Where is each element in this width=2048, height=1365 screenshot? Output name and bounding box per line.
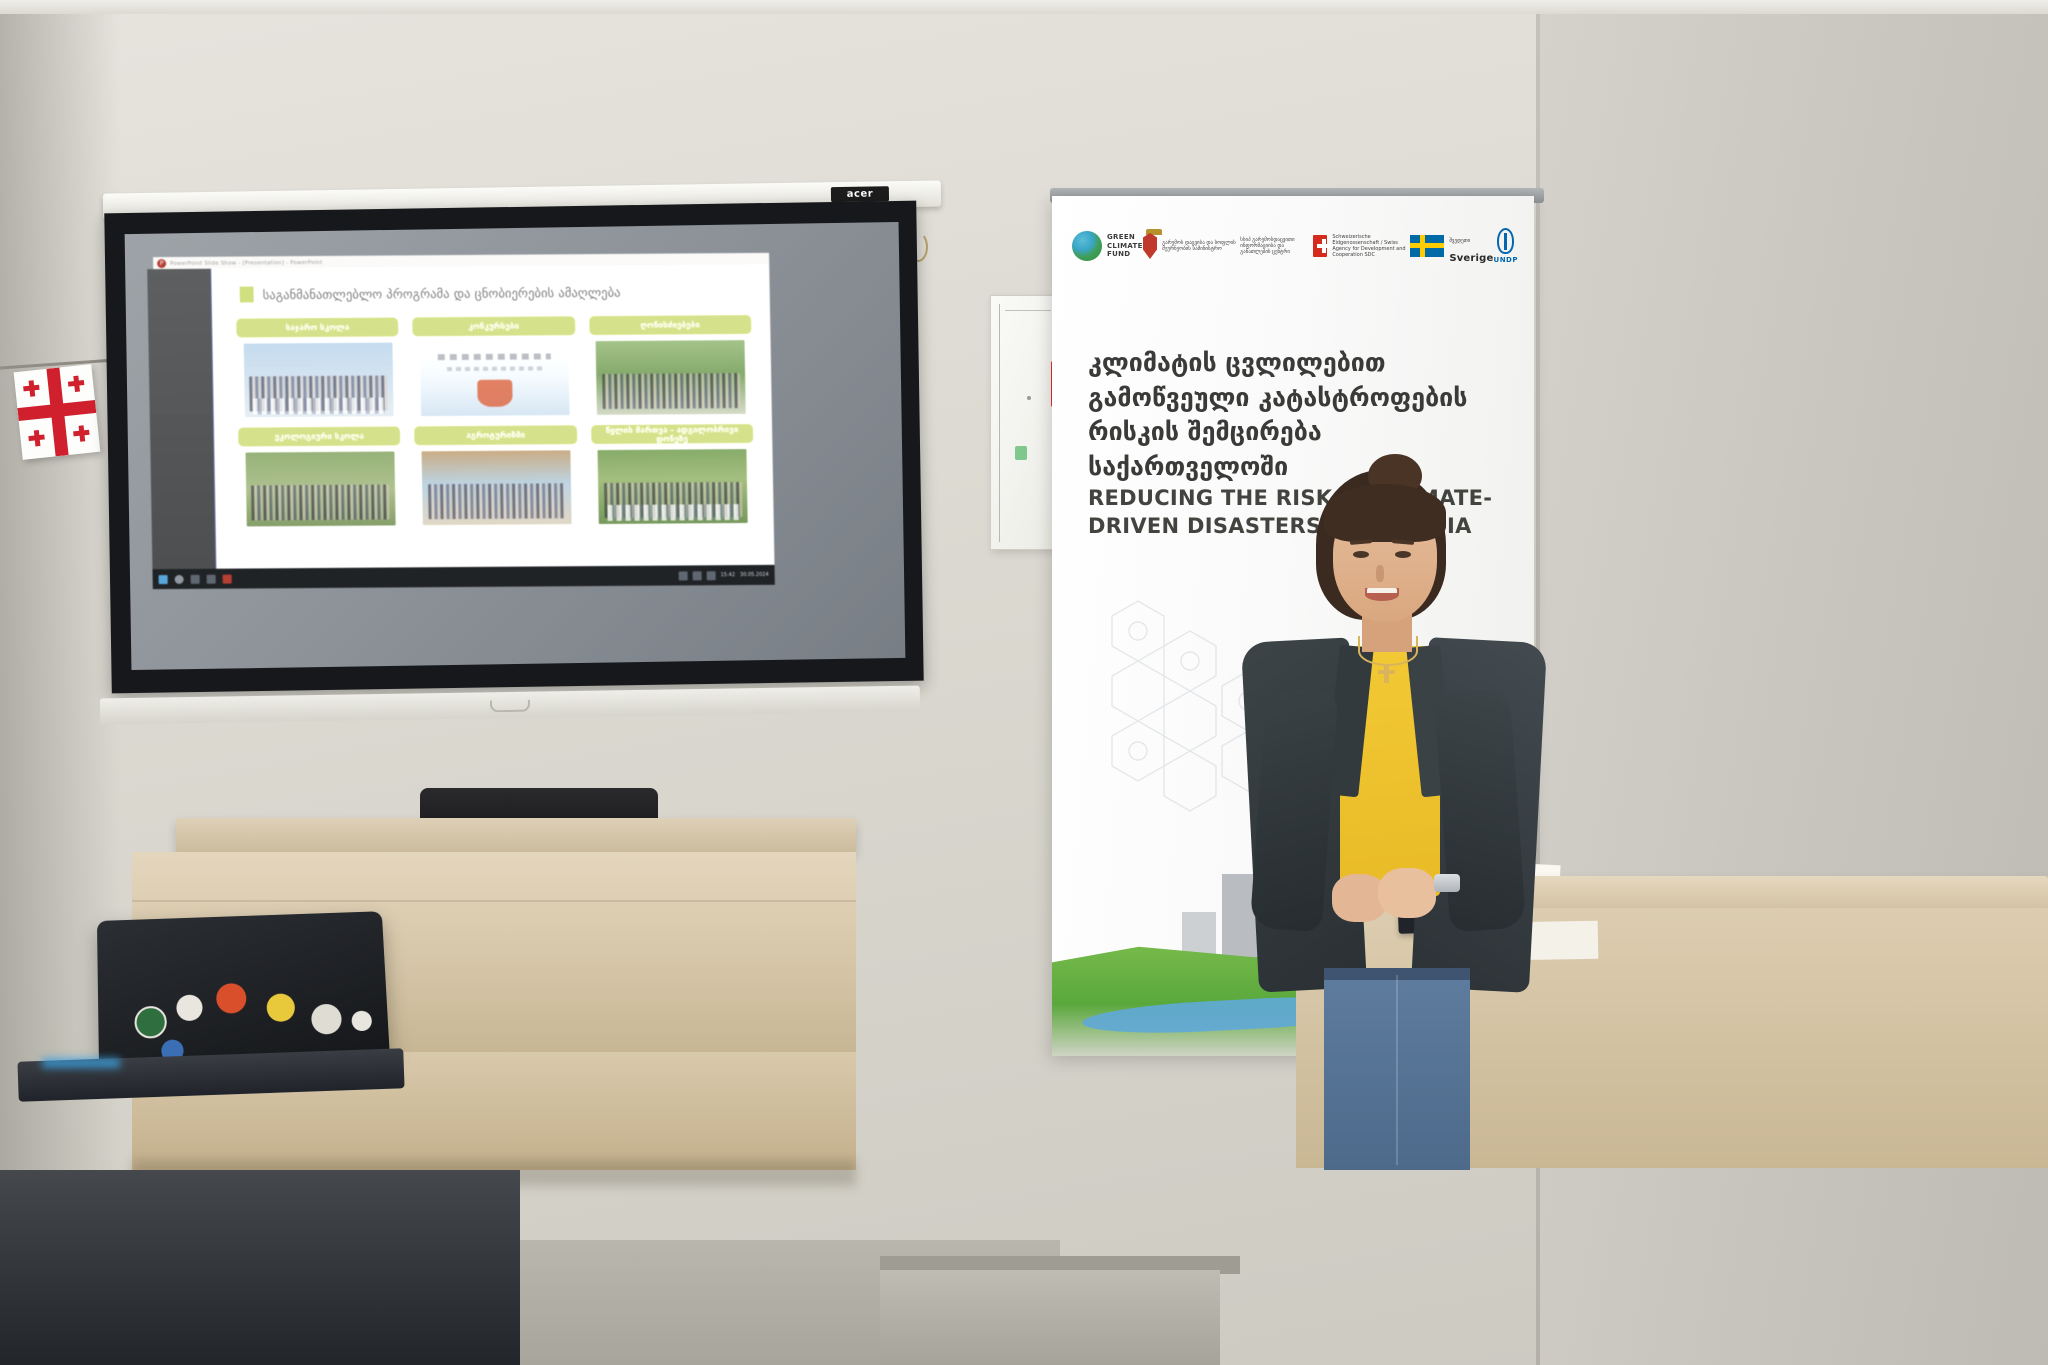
- folder-icon[interactable]: [191, 574, 200, 583]
- sdc-label: Schweizerische Eidgenossenschaft / Swiss…: [1332, 234, 1410, 259]
- swiss-flag-icon: [1313, 235, 1328, 257]
- slide-title-text: საგანმანათლებლო პროგრამა და ცნობიერების …: [263, 284, 621, 301]
- presenter: [1228, 470, 1558, 1170]
- slide-title: საგანმანათლებლო პროგრამა და ცნობიერების …: [240, 284, 621, 303]
- swiss-cooperation-logo: Schweizerische Eidgenossenschaft / Swiss…: [1313, 234, 1411, 259]
- laptop-sticker: [176, 994, 203, 1021]
- powerpoint-window-title: PowerPoint Slide Show - [Presentation] -…: [170, 259, 322, 266]
- slide-cell-label: საჯარო სკოლა: [236, 317, 399, 337]
- slide-cell: ეკოლოგიური სკოლა: [238, 426, 402, 526]
- cross-pendant-icon: [1384, 666, 1389, 683]
- slide-cell-image: [598, 449, 749, 524]
- center-label: სსიპ გარემოსდაცვითი ინფორმაციისა და განა…: [1240, 237, 1312, 256]
- network-icon[interactable]: [693, 571, 702, 580]
- slide-cell-image: [596, 340, 747, 415]
- slide-cell: კონკურსები: [412, 316, 576, 416]
- slide-cell-image: [243, 342, 394, 417]
- projector-screen-handle[interactable]: [490, 700, 530, 713]
- slide-cell: საჯარო სკოლა: [236, 317, 400, 417]
- ministry-label: გარემოს დაცვისა და სოფლის მეურნეობის სამ…: [1162, 240, 1240, 253]
- slide-cell: აგროტურიზმი: [414, 425, 578, 525]
- foreground-surface: [0, 1170, 520, 1365]
- slide-cell-label: ღონისძიებები: [589, 315, 752, 335]
- laptop-sticker: [351, 1011, 372, 1032]
- slide-cell-label: აგროტურიზმი: [414, 425, 577, 445]
- laptop-sticker: [134, 1006, 167, 1039]
- undp-logo: UNDP: [1494, 228, 1518, 264]
- gcf-label: GREENCLIMATEFUND: [1107, 233, 1143, 259]
- hair-front: [1324, 484, 1446, 542]
- floor-right: [880, 1270, 1220, 1365]
- slide-cell-image: [421, 450, 572, 525]
- georgia-ministry-logo: სსიპ გარემოსდაცვითი ინფორმაციისა და განა…: [1240, 237, 1312, 256]
- slide-cell: ღონისძიებები: [589, 315, 753, 415]
- laptop-lid[interactable]: [97, 911, 390, 1068]
- wristwatch: [1434, 874, 1460, 892]
- tree-icon: [1130, 964, 1150, 1002]
- banner-heading-georgian: კლიმატის ცვლილებით გამოწვეული კატასტროფე…: [1088, 346, 1512, 484]
- globe-icon: [1072, 231, 1102, 261]
- sverige-subtext: შვედეთი: [1449, 238, 1470, 244]
- undp-label: UNDP: [1494, 256, 1518, 264]
- sverige-label: Sverige: [1449, 253, 1493, 264]
- windows-icon[interactable]: [159, 575, 168, 584]
- search-icon[interactable]: [175, 574, 184, 583]
- necklace: [1358, 636, 1418, 666]
- slide-content-grid: საჯარო სკოლა კონკურსები ღონისძიებები: [236, 315, 755, 527]
- scene-root: acer P PowerPoint Slide Show - [Presenta…: [0, 0, 2048, 1365]
- undp-mark-icon: [1497, 228, 1514, 254]
- laptop-sticker: [311, 1004, 343, 1035]
- slide-cell-image: [245, 451, 396, 526]
- hand-right: [1378, 868, 1436, 918]
- green-sticker-icon: [1015, 446, 1027, 460]
- acer-logo: acer: [831, 186, 889, 202]
- projected-slide: P PowerPoint Slide Show - [Presentation]…: [147, 253, 775, 597]
- slide-cell-label: ეკოლოგიური სკოლა: [238, 426, 401, 446]
- windows-taskbar[interactable]: 15:42 30.05.2024: [152, 565, 774, 589]
- slide-cell: წყლის მართვა - ადგილობრივი დონეზე: [591, 424, 755, 524]
- wall-left-shadow: [0, 0, 120, 1365]
- taskbar-clock-date[interactable]: 30.05.2024: [740, 572, 769, 578]
- eye-left: [1353, 551, 1369, 558]
- powerpoint-taskbar-icon[interactable]: [223, 574, 232, 583]
- slide-title-bullet-icon: [240, 286, 254, 302]
- banner-logo-row: GREENCLIMATEFUND გარემოს დაცვისა და სოფლ…: [1072, 216, 1518, 276]
- laptop-sticker: [216, 983, 247, 1014]
- teeth: [1367, 588, 1397, 593]
- georgian-flag-icon: [14, 364, 101, 460]
- desk-panel-line: [132, 900, 856, 902]
- powerpoint-icon: P: [157, 259, 166, 268]
- cabinet-knob[interactable]: [1027, 396, 1031, 400]
- taskbar-clock-time[interactable]: 15:42: [721, 572, 736, 578]
- teacher-desk-top: [176, 818, 856, 854]
- jeans-seam: [1396, 975, 1398, 1165]
- slide-cell-image: [419, 341, 570, 416]
- sweden-sverige-logo: შვედეთი Sverige: [1410, 227, 1493, 265]
- slide-left-gutter: [147, 269, 216, 569]
- georgia-government-emblem: გარემოს დაცვისა და სოფლის მეურნეობის სამ…: [1143, 233, 1241, 259]
- wall-cabinet: [990, 295, 1058, 550]
- tray-chevron-icon[interactable]: [679, 571, 688, 580]
- laptop-power-led: [42, 1058, 120, 1068]
- slide-cell-label: წყლის მართვა - ადგილობრივი დონეზე: [591, 424, 754, 444]
- slide-cell-label: კონკურსები: [412, 316, 575, 336]
- coat-of-arms-icon: [1143, 233, 1158, 259]
- nose: [1376, 565, 1384, 582]
- tree-icon: [1092, 964, 1118, 1012]
- eye-right: [1395, 551, 1411, 558]
- sweden-flag-icon: [1410, 235, 1444, 257]
- browser-icon[interactable]: [207, 574, 216, 583]
- slide-canvas: საგანმანათლებლო პროგრამა და ცნობიერების …: [210, 265, 774, 569]
- green-climate-fund-logo: GREENCLIMATEFUND: [1072, 231, 1143, 261]
- laptop-sticker: [266, 993, 295, 1022]
- ceiling-edge: [0, 0, 2048, 14]
- volume-icon[interactable]: [707, 571, 716, 580]
